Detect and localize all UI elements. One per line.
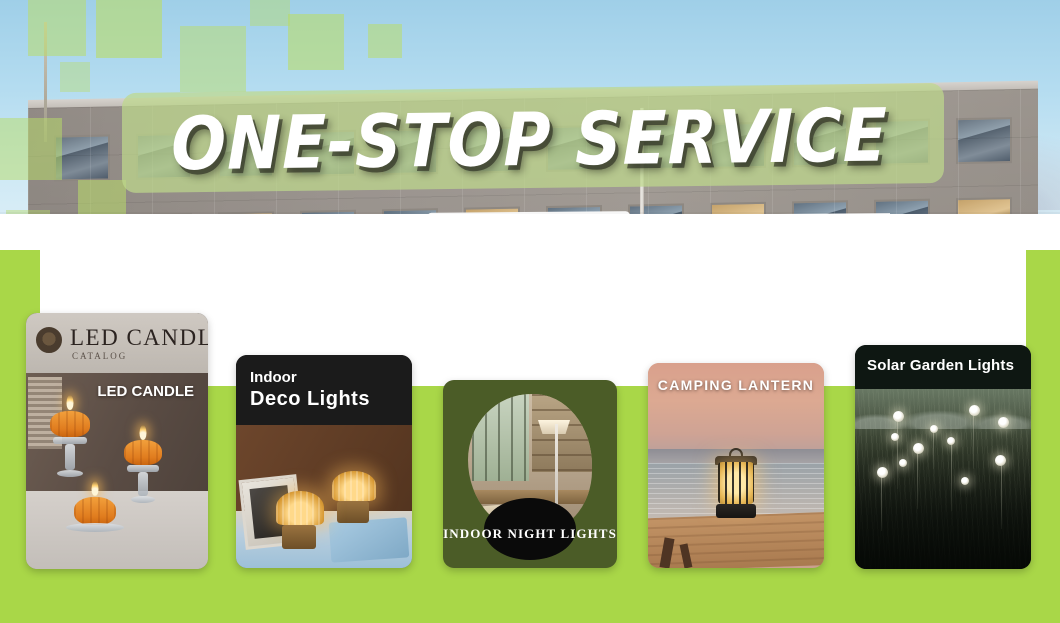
deco-lamp-object [276,491,324,553]
card-header: Solar Garden Lights [855,345,1031,389]
night-light-pole [555,424,558,512]
solar-orb-light [893,411,904,422]
decor-square-icon [28,0,86,56]
brand-logo-icon [36,327,62,353]
decor-square-icon [368,24,402,58]
solar-orb-light [947,437,955,445]
decor-square-icon [60,62,90,92]
solar-orb-light [891,433,899,441]
solar-orb-light [913,443,924,454]
card-header: Indoor Deco Lights [236,355,412,425]
product-image [26,373,208,569]
decor-square-icon [96,0,162,58]
card-label: CAMPING LANTERN [648,377,824,393]
solar-orb-light [899,459,907,467]
promo-banner: ONE-STOP SERVICE CUSTOMIZED SUPPORT MANU… [0,0,1060,623]
page-title: ONE-STOP SERVICE [172,92,889,187]
card-label: Solar Garden Lights [867,357,1014,374]
candle-object [50,395,90,491]
solar-orb-light [969,405,980,416]
green-panel-right-edge [1026,250,1060,623]
solar-orb-light [877,467,888,478]
night-light-shade [538,420,570,434]
solar-orb-light [930,425,938,433]
candle-object [124,425,162,513]
catalog-subtitle: CATALOG [72,351,127,361]
catalog-title: LED CANDLE [70,325,208,351]
decor-square-icon [180,26,246,92]
product-card-camping-lantern[interactable]: CAMPING LANTERN [648,363,824,568]
catalog-header: LED CANDLE CATALOG [26,313,208,373]
card-label-line2: Deco Lights [250,388,370,411]
decor-square-icon [288,14,344,70]
product-image [648,363,824,568]
card-label: INDOOR NIGHT LIGHTS [443,526,617,542]
solar-orb-light [961,477,969,485]
decor-square-icon [250,0,290,26]
product-card-indoor-night-lights[interactable]: INDOOR NIGHT LIGHTS [443,380,617,568]
candle-object [74,481,116,533]
product-card-indoor-deco-lights[interactable]: Indoor Deco Lights [236,355,412,568]
solar-orb-light [998,417,1009,428]
scene-window [472,394,529,481]
solar-orb-light [995,455,1006,466]
deco-lamp-object [332,471,376,527]
headline-wrapper: ONE-STOP SERVICE [0,84,1060,195]
lantern-object [713,448,759,522]
product-card-led-candle[interactable]: LED CANDLE CATALOG LED CANDLE [26,313,208,569]
product-image [855,389,1031,569]
product-card-solar-garden-lights[interactable]: Solar Garden Lights [855,345,1031,569]
card-label: LED CANDLE [97,383,194,400]
card-label-line1: Indoor [250,369,297,386]
product-image [236,425,412,568]
